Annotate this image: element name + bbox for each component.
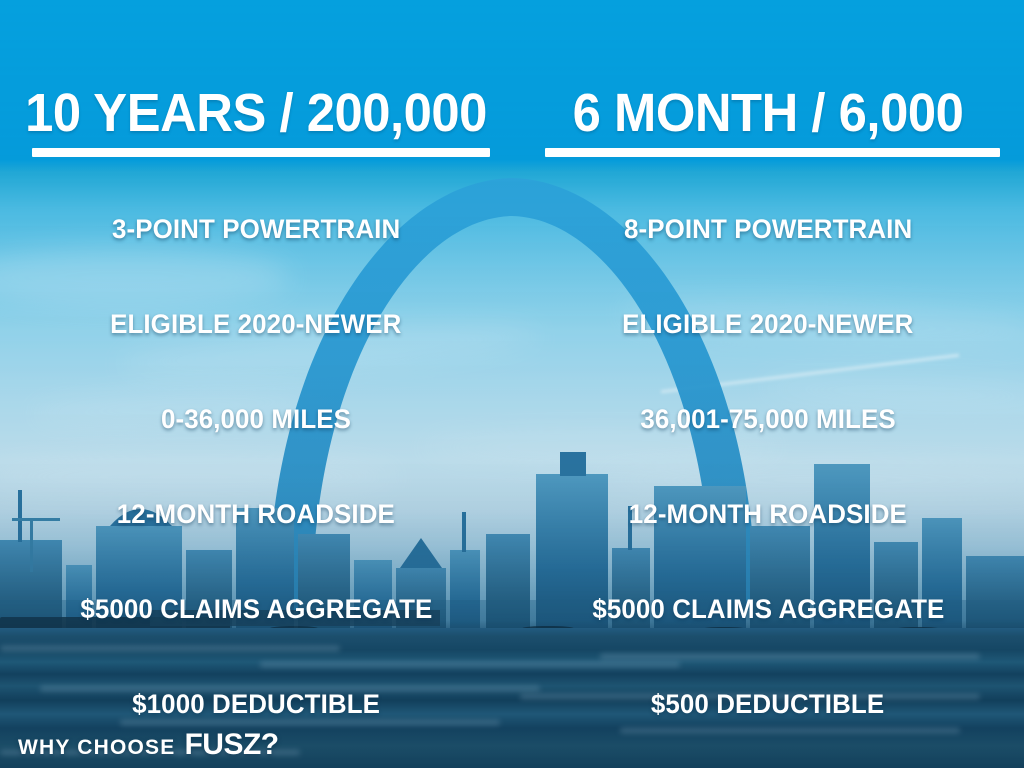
feature-row: 8-POINT POWERTRAIN (512, 182, 1024, 277)
feature-row: $500 DEDUCTIBLE (512, 657, 1024, 752)
feature-text: $5000 CLAIMS AGGREGATE (592, 594, 944, 625)
feature-row: ELIGIBLE 2020-NEWER (512, 277, 1024, 372)
feature-text: $1000 DEDUCTIBLE (132, 689, 380, 720)
feature-row: $5000 CLAIMS AGGREGATE (0, 562, 512, 657)
plan-header-10-year: 10 YEARS / 200,000 (15, 86, 496, 140)
plan-column-10-year: 10 YEARS / 200,000 3-POINT POWERTRAIN EL… (0, 0, 512, 768)
feature-row: 12-MONTH ROADSIDE (512, 467, 1024, 562)
feature-row: 12-MONTH ROADSIDE (0, 467, 512, 562)
feature-row: ELIGIBLE 2020-NEWER (0, 277, 512, 372)
plan-header-6-month: 6 MONTH / 6,000 (527, 86, 1008, 140)
feature-text: 12-MONTH ROADSIDE (117, 499, 395, 530)
plan-header-underline (545, 148, 1000, 157)
feature-row: 3-POINT POWERTRAIN (0, 182, 512, 277)
feature-text: 3-POINT POWERTRAIN (112, 214, 400, 245)
feature-text: $500 DEDUCTIBLE (651, 689, 884, 720)
feature-text: 8-POINT POWERTRAIN (624, 214, 912, 245)
brand-lockup: WHY CHOOSE FUSZ? (18, 728, 279, 762)
comparison-table: 10 YEARS / 200,000 3-POINT POWERTRAIN EL… (0, 0, 1024, 768)
plan-feature-list-10-year: 3-POINT POWERTRAIN ELIGIBLE 2020-NEWER 0… (0, 182, 512, 752)
feature-text: 36,001-75,000 MILES (640, 404, 895, 435)
plan-header-underline (32, 148, 490, 157)
plan-feature-list-6-month: 8-POINT POWERTRAIN ELIGIBLE 2020-NEWER 3… (512, 182, 1024, 752)
plan-column-6-month: 6 MONTH / 6,000 8-POINT POWERTRAIN ELIGI… (512, 0, 1024, 768)
feature-row: 36,001-75,000 MILES (512, 372, 1024, 467)
feature-text: ELIGIBLE 2020-NEWER (110, 309, 401, 340)
feature-row: 0-36,000 MILES (0, 372, 512, 467)
feature-text: ELIGIBLE 2020-NEWER (622, 309, 913, 340)
feature-text: 12-MONTH ROADSIDE (629, 499, 907, 530)
brand-name-text: FUSZ? (184, 728, 278, 762)
feature-text: $5000 CLAIMS AGGREGATE (80, 594, 432, 625)
brand-prefix-text: WHY CHOOSE (18, 736, 175, 760)
feature-text: 0-36,000 MILES (161, 404, 351, 435)
feature-row: $5000 CLAIMS AGGREGATE (512, 562, 1024, 657)
